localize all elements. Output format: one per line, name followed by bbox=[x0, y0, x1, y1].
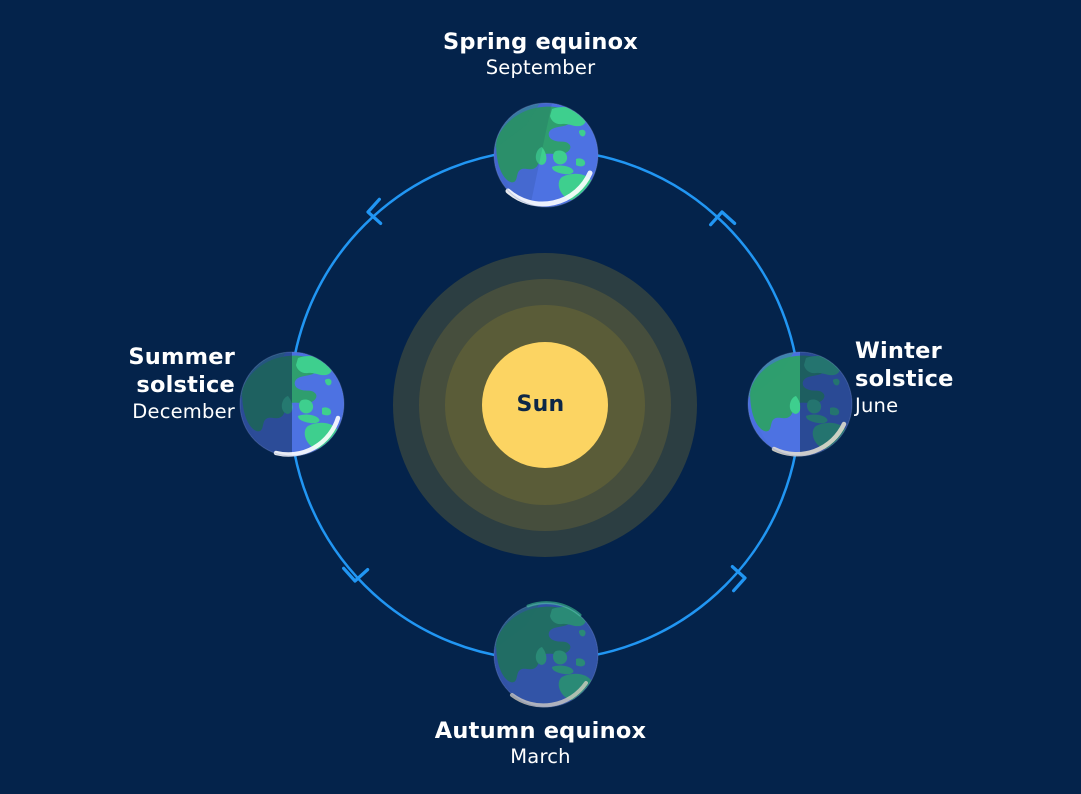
label-spring-equinox: Spring equinox September bbox=[0, 28, 1081, 81]
label-winter-solstice: Winter solstice June bbox=[855, 337, 1065, 418]
label-spring-equinox-title: Spring equinox bbox=[0, 28, 1081, 56]
label-winter-solstice-month: June bbox=[855, 394, 1065, 419]
label-autumn-equinox-title: Autumn equinox bbox=[0, 717, 1081, 745]
label-winter-solstice-title-line2: solstice bbox=[855, 365, 1065, 393]
earth-night-shadow bbox=[494, 603, 598, 707]
label-autumn-equinox-month: March bbox=[0, 745, 1081, 770]
label-summer-solstice-title-line2: solstice bbox=[30, 371, 235, 399]
label-summer-solstice-month: December bbox=[30, 400, 235, 425]
earth-spring-equinox bbox=[494, 103, 606, 213]
label-summer-solstice: Summer solstice December bbox=[30, 343, 235, 424]
earth-autumn-equinox bbox=[494, 603, 606, 713]
label-winter-solstice-title-line1: Winter bbox=[855, 337, 1065, 365]
seasons-diagram: Sun Spring equinox September Winter sols… bbox=[0, 0, 1081, 794]
label-autumn-equinox: Autumn equinox March bbox=[0, 717, 1081, 770]
label-summer-solstice-title-line1: Summer bbox=[30, 343, 235, 371]
label-spring-equinox-month: September bbox=[0, 56, 1081, 81]
